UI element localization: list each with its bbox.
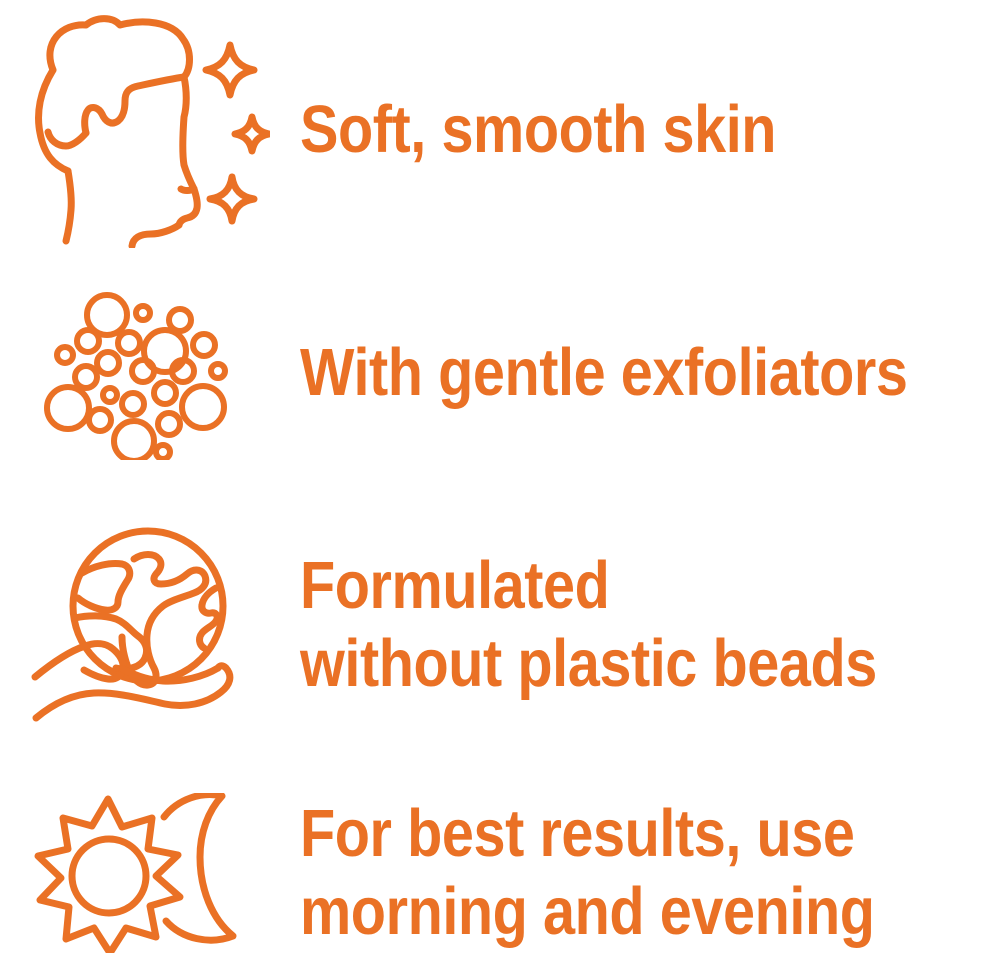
- benefit-line: For best results, use: [300, 795, 902, 873]
- benefit-icon-cell: [0, 13, 290, 248]
- benefit-icon-cell: [0, 793, 290, 953]
- bubbles-beads-icon: [38, 285, 253, 460]
- benefit-line: Formulated: [300, 547, 902, 625]
- benefit-icon-cell: [0, 285, 290, 460]
- hand-holding-globe-icon: [30, 518, 260, 733]
- benefit-line: without plastic beads: [300, 625, 902, 703]
- sun-and-moon-icon: [30, 793, 260, 953]
- face-profile-sparkle-icon: [20, 13, 270, 248]
- benefit-text-cell: With gentle exfoliators: [290, 334, 1000, 412]
- benefit-line: With gentle exfoliators: [300, 334, 907, 412]
- benefit-text-cell: For best results, use morning and evenin…: [290, 795, 1000, 950]
- benefit-text-cell: Formulated without plastic beads: [290, 547, 1000, 702]
- benefit-row: For best results, use morning and evenin…: [0, 780, 1000, 965]
- benefit-row: Soft, smooth skin: [0, 0, 1000, 260]
- benefit-line: Soft, smooth skin: [300, 91, 902, 169]
- benefit-row: Formulated without plastic beads: [0, 500, 1000, 750]
- benefit-icon-cell: [0, 518, 290, 733]
- product-benefits-panel: Soft, smooth skin: [0, 0, 1000, 965]
- benefit-line: morning and evening: [300, 873, 902, 951]
- benefit-text-cell: Soft, smooth skin: [290, 91, 1000, 169]
- benefit-row: With gentle exfoliators: [0, 265, 1000, 480]
